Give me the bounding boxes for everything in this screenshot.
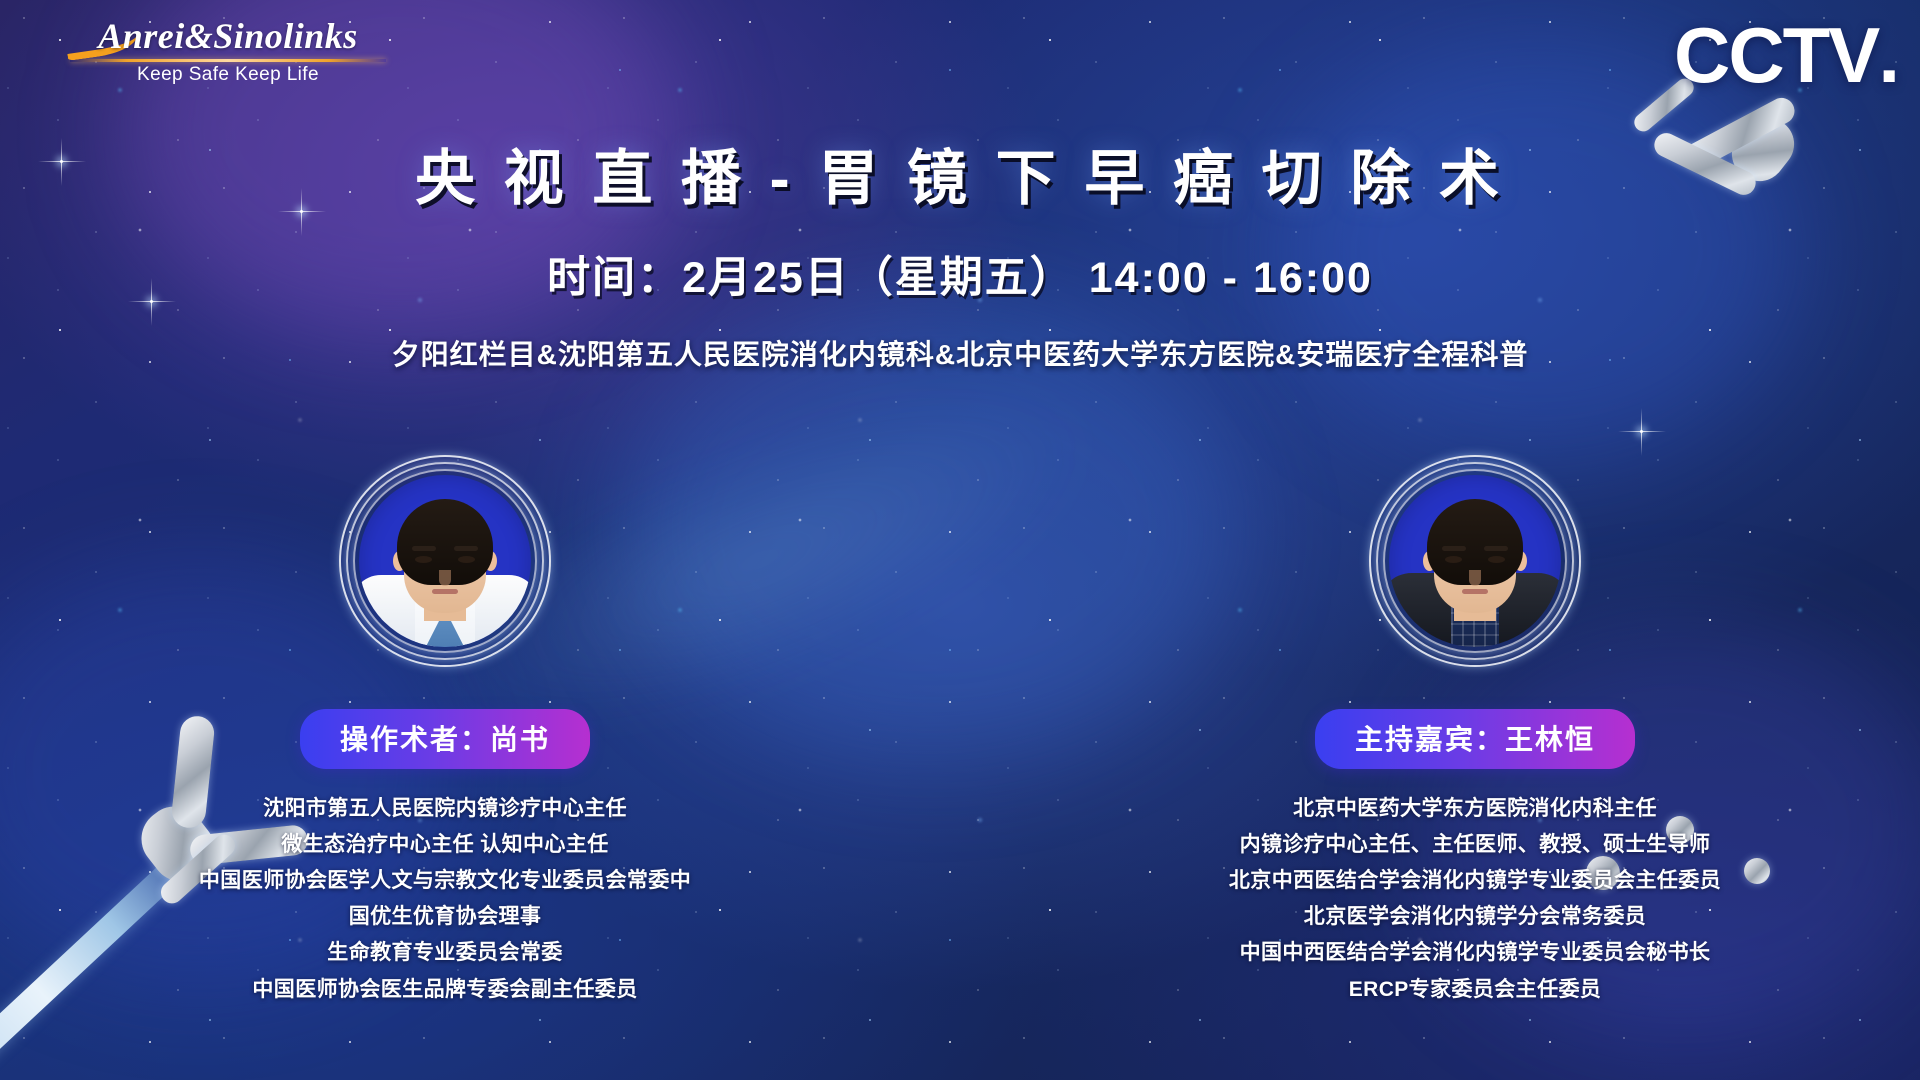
list-item: 国优生优育协会理事: [165, 899, 725, 935]
event-description: 夕阳红栏目&沈阳第五人民医院消化内镜科&北京中医药大学东方医院&安瑞医疗全程科普: [0, 333, 1920, 373]
list-item: 中国中西医结合学会消化内镜学专业委员会秘书长: [1195, 935, 1755, 971]
list-item: 北京中西医结合学会消化内镜学专业委员会主任委员: [1195, 863, 1755, 899]
list-item: 沈阳市第五人民医院内镜诊疗中心主任: [165, 791, 725, 827]
brand-logo: Anrei&Sinolinks Keep Safe Keep Life: [68, 18, 388, 86]
cctv-logo: CCTV.: [1674, 10, 1894, 101]
portrait-eye: [1445, 556, 1462, 563]
list-item: 北京中医药大学东方医院消化内科主任: [1195, 791, 1755, 827]
avatar-photo-operator: [359, 475, 531, 647]
brand-logo-text: Anrei&Sinolinks: [68, 18, 388, 56]
list-item: 生命教育专业委员会常委: [165, 935, 725, 971]
portrait-nose: [439, 570, 451, 586]
portrait-nose: [1469, 570, 1481, 586]
portrait-figure: [359, 475, 531, 647]
speaker-card-operator: 操作术者：尚书 沈阳市第五人民医院内镜诊疗中心主任 微生态治疗中心主任 认知中心…: [165, 455, 725, 1008]
portrait-eyebrow: [1442, 546, 1466, 551]
headline-block: 央 视 直 播 - 胃 镜 下 早 癌 切 除 术 时间：2月25日（星期五） …: [0, 130, 1920, 373]
list-item: ERCP专家委员会主任委员: [1195, 972, 1755, 1008]
livestream-poster: Anrei&Sinolinks Keep Safe Keep Life CCTV…: [0, 0, 1920, 1080]
avatar-photo-host: [1389, 475, 1561, 647]
list-item: 中国医师协会医生品牌专委会副主任委员: [165, 972, 725, 1008]
list-item: 微生态治疗中心主任 认知中心主任: [165, 827, 725, 863]
portrait-eye: [1488, 556, 1505, 563]
status-badge-host: 主持嘉宾：王林恒: [1315, 709, 1635, 769]
portrait-eye: [458, 556, 475, 563]
brand-divider: [70, 59, 386, 62]
sparkle-star-icon: [1640, 430, 1643, 433]
event-time: 时间：2月25日（星期五） 14:00 - 16:00: [0, 243, 1920, 305]
list-item: 北京医学会消化内镜学分会常务委员: [1195, 899, 1755, 935]
avatar: [1369, 455, 1581, 667]
portrait-eyebrow: [1484, 546, 1508, 551]
speakers-row: 操作术者：尚书 沈阳市第五人民医院内镜诊疗中心主任 微生态治疗中心主任 认知中心…: [0, 455, 1920, 1008]
list-item: 中国医师协会医学人文与宗教文化专业委员会常委中: [165, 863, 725, 899]
page-title: 央 视 直 播 - 胃 镜 下 早 癌 切 除 术: [0, 130, 1920, 217]
portrait-mouth: [1462, 589, 1488, 594]
portrait-mouth: [432, 589, 458, 594]
cctv-logo-dot: .: [1878, 11, 1894, 99]
portrait-eyebrow: [412, 546, 436, 551]
list-item: 内镜诊疗中心主任、主任医师、教授、硕士生导师: [1195, 827, 1755, 863]
portrait-figure: [1389, 475, 1561, 647]
portrait-eyebrow: [454, 546, 478, 551]
credentials-list-operator: 沈阳市第五人民医院内镜诊疗中心主任 微生态治疗中心主任 认知中心主任 中国医师协…: [165, 791, 725, 1008]
speaker-card-host: 主持嘉宾：王林恒 北京中医药大学东方医院消化内科主任 内镜诊疗中心主任、主任医师…: [1195, 455, 1755, 1008]
status-badge-operator: 操作术者：尚书: [300, 709, 590, 769]
avatar: [339, 455, 551, 667]
portrait-eye: [415, 556, 432, 563]
cctv-logo-text: CCTV: [1674, 11, 1878, 99]
credentials-list-host: 北京中医药大学东方医院消化内科主任 内镜诊疗中心主任、主任医师、教授、硕士生导师…: [1195, 791, 1755, 1008]
brand-tagline: Keep Safe Keep Life: [68, 64, 388, 86]
